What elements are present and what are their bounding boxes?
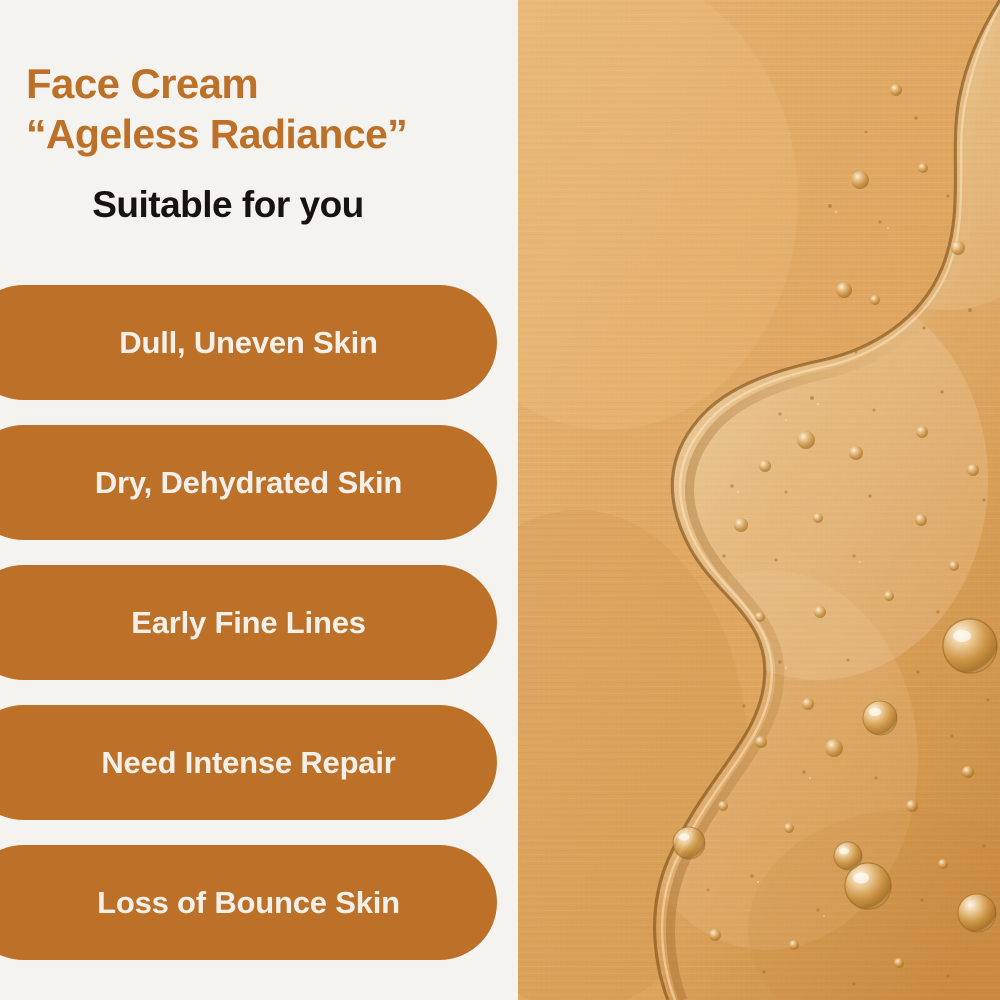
- benefit-pill-label: Need Intense Repair: [101, 747, 395, 778]
- benefit-pill[interactable]: Early Fine Lines: [0, 565, 497, 680]
- benefit-pill-list: Dull, Uneven Skin Dry, Dehydrated Skin E…: [0, 285, 518, 960]
- benefit-pill[interactable]: Need Intense Repair: [0, 705, 497, 820]
- benefit-pill[interactable]: Dull, Uneven Skin: [0, 285, 497, 400]
- serum-image-panel: [518, 0, 1000, 1000]
- benefit-pill-label: Dry, Dehydrated Skin: [95, 467, 402, 498]
- benefit-pill-label: Early Fine Lines: [131, 607, 366, 638]
- benefit-pill-label: Loss of Bounce Skin: [97, 887, 400, 918]
- benefit-pill-label: Dull, Uneven Skin: [119, 327, 377, 358]
- benefit-pill[interactable]: Loss of Bounce Skin: [0, 845, 497, 960]
- poster-canvas: Face Cream “Ageless Radiance” Suitable f…: [0, 0, 1000, 1000]
- product-headline-line2: “Ageless Radiance”: [0, 109, 518, 159]
- serum-texture-photo: [518, 0, 1000, 1000]
- benefit-pill[interactable]: Dry, Dehydrated Skin: [0, 425, 497, 540]
- page-subheading: Suitable for you: [0, 159, 518, 226]
- left-content-panel: Face Cream “Ageless Radiance” Suitable f…: [0, 0, 518, 1000]
- product-headline-line1: Face Cream: [0, 58, 518, 109]
- headline-block: Face Cream “Ageless Radiance” Suitable f…: [0, 58, 518, 226]
